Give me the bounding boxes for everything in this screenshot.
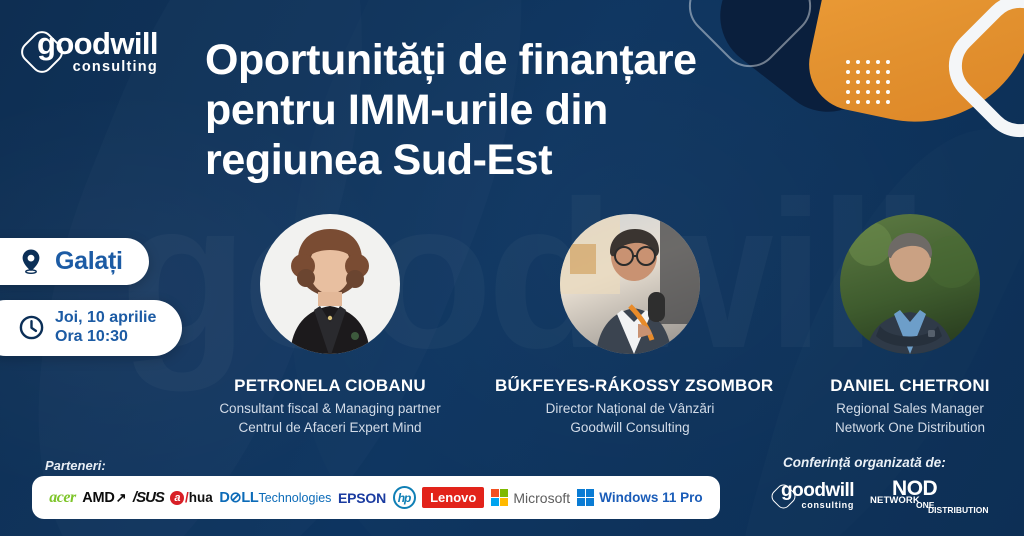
partner-logo-dell: D⊘LLTechnologies: [219, 490, 331, 506]
page-title: Oportunități de finanțare pentru IMM-uri…: [205, 36, 805, 186]
time-label: Joi, 10 aprilie Ora 10:30: [55, 309, 156, 347]
map-pin-icon: [18, 249, 44, 275]
speaker-role-line-2: Network One Distribution: [835, 420, 985, 435]
partner-logo-dahua: a/hua: [170, 490, 212, 505]
title-line-1: Oportunități de finanțare: [205, 36, 805, 86]
organizer-logo-goodwill: goodwill consulting: [768, 481, 854, 511]
goodwill-diamond-icon: [17, 27, 67, 77]
speaker-photo-1: [260, 214, 400, 354]
speaker-photo-2: [560, 214, 700, 354]
speaker-card: DANIEL CHETRONI Regional Sales Manager N…: [835, 214, 985, 437]
nod-distribution: DISTRIBUTION: [928, 505, 988, 515]
title-line-2: pentru IMM-urile din: [205, 86, 805, 136]
dahua-a-mark-icon: a: [170, 491, 184, 505]
partner-logo-acer: acer: [49, 489, 75, 507]
partner-logo-hp: hp: [393, 486, 416, 509]
organizer-logo-nod: NOD NETWORK ONE DISTRIBUTION: [868, 478, 976, 514]
speaker-role-line-1: Consultant fiscal & Managing partner: [219, 401, 440, 416]
background-watermark-text: goodwill: [120, 170, 923, 380]
hp-circle-icon: hp: [393, 486, 416, 509]
hour-line: Ora 10:30: [55, 328, 128, 345]
partner-logo-epson: EPSON: [338, 490, 386, 506]
dahua-text: hua: [189, 490, 213, 505]
organizer-logos: goodwill consulting NOD NETWORK ONE DIST…: [768, 478, 976, 514]
clock-icon: [18, 315, 44, 341]
goodwill-diamond-icon: [768, 481, 798, 511]
speaker-role-line-1: Regional Sales Manager: [836, 401, 984, 416]
speaker-role: Regional Sales Manager Network One Distr…: [765, 400, 1024, 437]
partners-logo-bar: acer AMD↗ /SUS a/hua D⊘LLTechnologies EP…: [32, 476, 720, 519]
speaker-name: PETRONELA CIOBANU: [195, 376, 465, 396]
speaker-card: PETRONELA CIOBANU Consultant fiscal & Ma…: [255, 214, 405, 437]
speaker-role: Director Național de Vânzări Goodwill Co…: [485, 400, 775, 437]
partners-label: Parteneri:: [45, 458, 106, 473]
speaker-photo-3: [840, 214, 980, 354]
windows-squares-icon: [577, 489, 595, 507]
speaker-role-line-1: Director Național de Vânzări: [546, 401, 715, 416]
partner-logo-windows11pro: Windows 11 Pro: [577, 489, 703, 507]
speaker-name: DANIEL CHETRONI: [775, 376, 1024, 396]
organizer-label: Conferință organizată de:: [783, 455, 946, 470]
partner-logo-lenovo: Lenovo: [422, 487, 484, 508]
windows-text: Windows 11 Pro: [599, 490, 702, 505]
speaker-card: BŰKFEYES-RÁKOSSY ZSOMBOR Director Națion…: [555, 214, 705, 437]
partner-logo-asus: /SUS: [133, 489, 164, 506]
speaker-role: Consultant fiscal & Managing partner Cen…: [185, 400, 475, 437]
amd-text: AMD: [82, 490, 114, 506]
speaker-role-line-2: Goodwill Consulting: [570, 420, 689, 435]
poster-canvas: goodwill goodwill consulting Oportunităț…: [0, 0, 1024, 536]
partner-logo-microsoft: Microsoft: [491, 489, 570, 507]
speaker-name: BŰKFEYES-RÁKOSSY ZSOMBOR: [495, 376, 765, 396]
dot-grid-decoration: [846, 60, 896, 110]
nod-network: NETWORK: [870, 495, 920, 506]
location-badge: Galați: [0, 238, 149, 285]
dell-mark: D⊘LL: [219, 490, 258, 506]
location-label: Galați: [55, 247, 123, 276]
title-line-3: regiunea Sud-Est: [205, 136, 805, 186]
microsoft-text: Microsoft: [513, 490, 570, 506]
date-line: Joi, 10 aprilie: [55, 309, 156, 326]
dell-suffix: Technologies: [258, 491, 331, 505]
partner-logo-amd: AMD↗: [82, 490, 126, 506]
time-badge: Joi, 10 aprilie Ora 10:30: [0, 300, 182, 356]
microsoft-squares-icon: [491, 489, 509, 507]
speaker-role-line-2: Centrul de Afaceri Expert Mind: [238, 420, 421, 435]
brand-logo: goodwill consulting: [17, 27, 158, 77]
amd-arrow-icon: ↗: [116, 490, 127, 506]
